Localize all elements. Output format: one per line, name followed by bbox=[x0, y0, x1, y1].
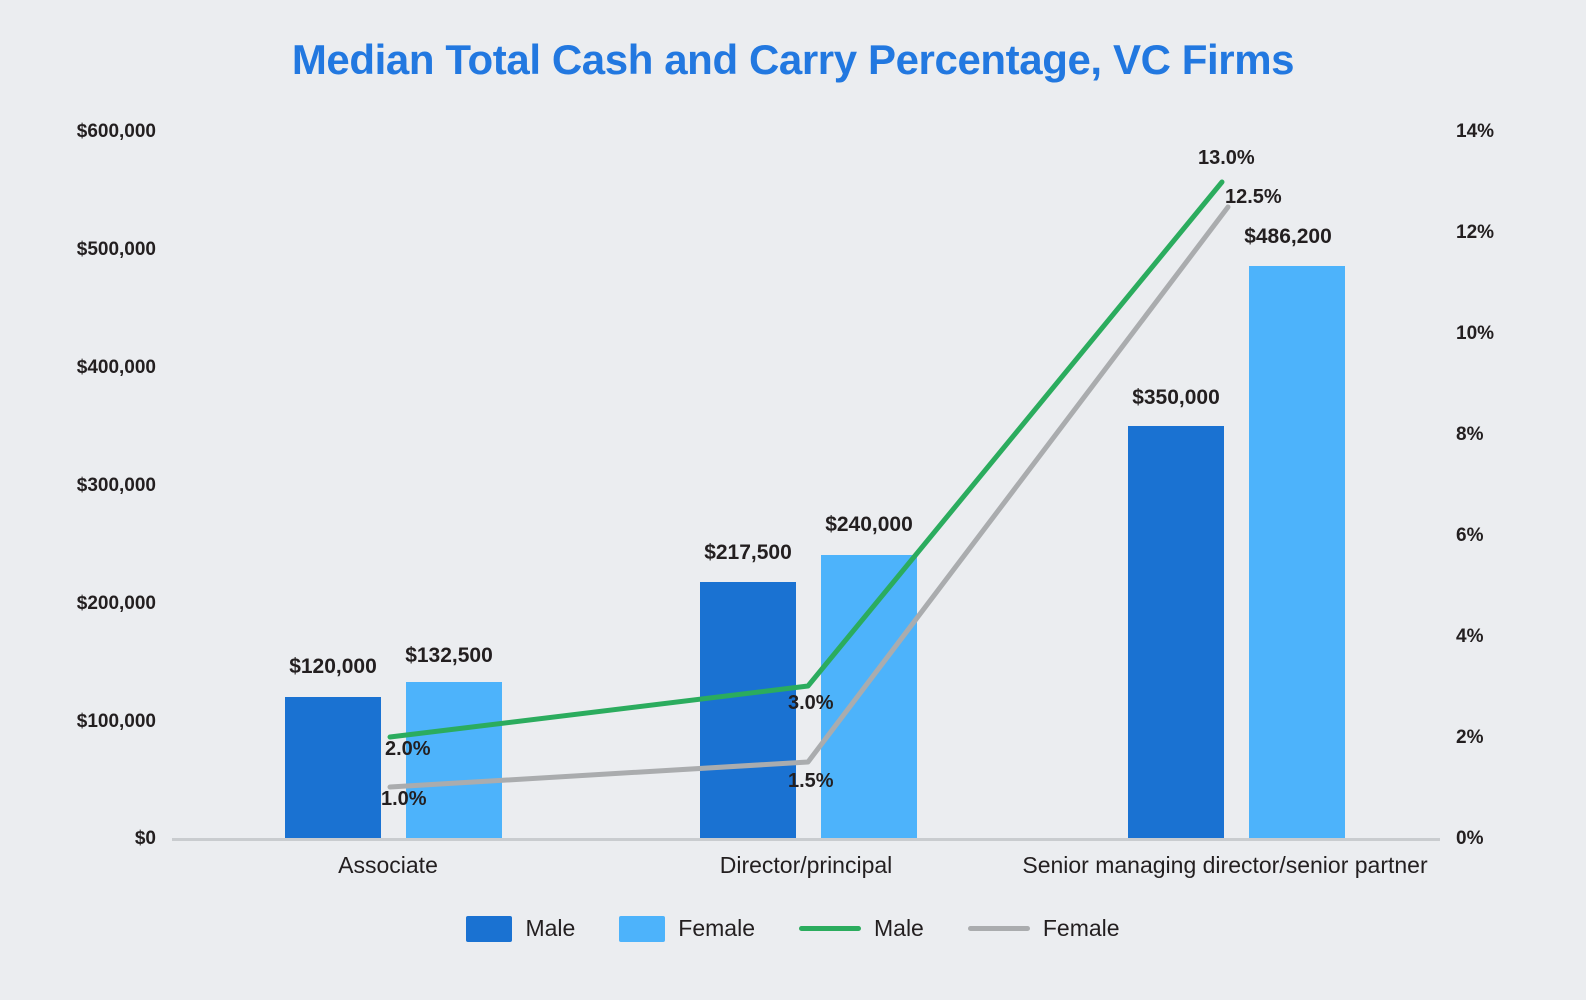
legend-item-bar-female[interactable]: Female bbox=[619, 915, 755, 942]
legend-item-line-female[interactable]: Female bbox=[968, 915, 1120, 942]
chart-legend: Male Female Male Female bbox=[0, 915, 1586, 942]
line-label-male-senior: 13.0% bbox=[1198, 147, 1255, 170]
bar-male-associate[interactable] bbox=[285, 697, 381, 838]
legend-swatch-bar-male-icon bbox=[466, 916, 512, 942]
category-label-senior: Senior managing director/senior partner bbox=[1022, 852, 1427, 879]
bar-label-male-senior: $350,000 bbox=[1132, 386, 1220, 410]
legend-label-line-male: Male bbox=[874, 915, 924, 942]
category-label-director: Director/principal bbox=[720, 852, 893, 879]
line-series-male[interactable] bbox=[390, 182, 1222, 737]
legend-item-line-male[interactable]: Male bbox=[799, 915, 924, 942]
bar-male-director[interactable] bbox=[700, 582, 796, 838]
bar-label-female-director: $240,000 bbox=[825, 513, 913, 537]
line-label-male-associate: 2.0% bbox=[385, 738, 431, 761]
bar-male-senior[interactable] bbox=[1128, 426, 1224, 838]
bar-label-female-senior: $486,200 bbox=[1244, 225, 1332, 249]
legend-swatch-line-female-icon bbox=[968, 926, 1030, 931]
line-label-male-director: 3.0% bbox=[788, 692, 834, 715]
line-series-overlay bbox=[0, 0, 1586, 1000]
category-label-associate: Associate bbox=[338, 852, 438, 879]
legend-label-line-female: Female bbox=[1043, 915, 1120, 942]
plot-area: $120,000 $132,500 $217,500 $240,000 $350… bbox=[0, 0, 1586, 1000]
bar-label-male-director: $217,500 bbox=[704, 541, 792, 565]
line-label-female-senior: 12.5% bbox=[1225, 186, 1282, 209]
bar-label-female-associate: $132,500 bbox=[405, 644, 493, 668]
bar-female-senior[interactable] bbox=[1249, 266, 1345, 838]
bar-female-director[interactable] bbox=[821, 555, 917, 838]
legend-label-bar-female: Female bbox=[678, 915, 755, 942]
legend-swatch-line-male-icon bbox=[799, 926, 861, 931]
line-label-female-associate: 1.0% bbox=[381, 788, 427, 811]
x-axis-baseline bbox=[172, 838, 1440, 841]
legend-label-bar-male: Male bbox=[525, 915, 575, 942]
legend-swatch-bar-female-icon bbox=[619, 916, 665, 942]
legend-item-bar-male[interactable]: Male bbox=[466, 915, 575, 942]
line-label-female-director: 1.5% bbox=[788, 770, 834, 793]
chart-container: Median Total Cash and Carry Percentage, … bbox=[0, 0, 1586, 1000]
bar-label-male-associate: $120,000 bbox=[289, 655, 377, 679]
